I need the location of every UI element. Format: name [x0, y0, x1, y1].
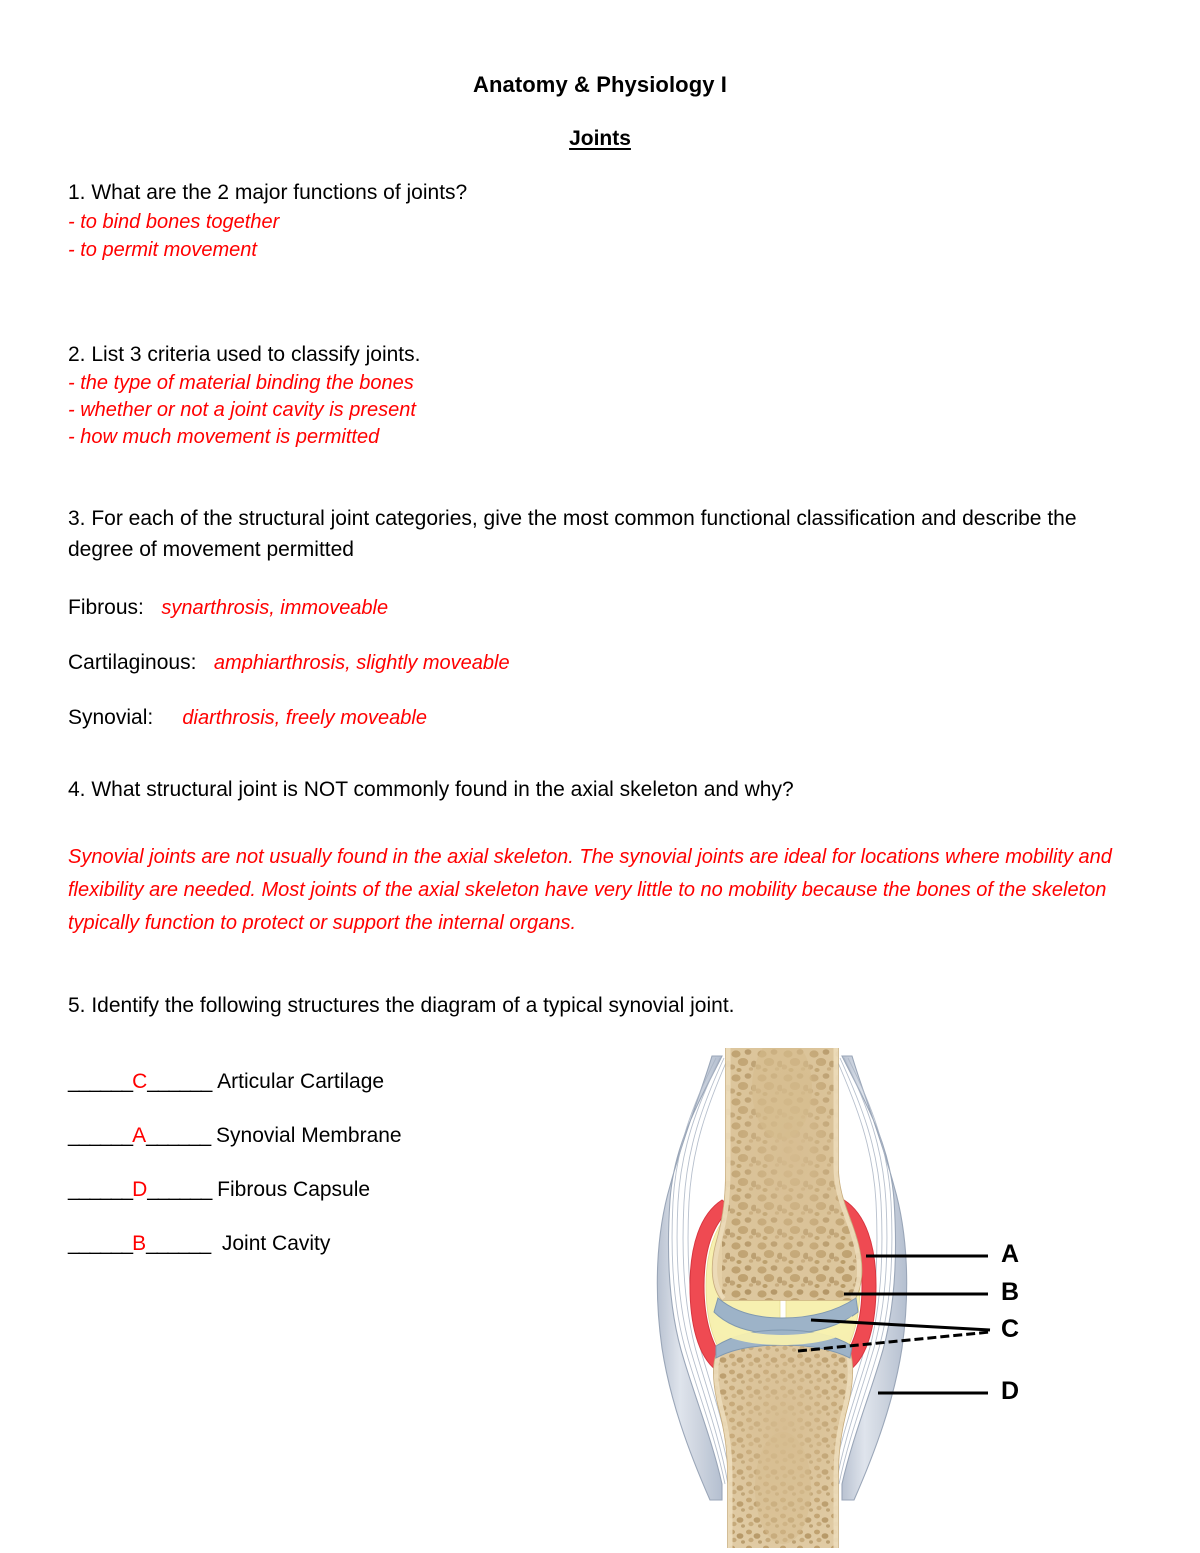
- question-4-prompt: 4. What structural joint is NOT commonly…: [68, 775, 1133, 805]
- diagram-label-d: D: [1001, 1377, 1019, 1406]
- identification-list: ______C______ Articular Cartilage ______…: [68, 1070, 402, 1286]
- question-3: 3. For each of the structural joint cate…: [68, 503, 1108, 730]
- list-item: ______B______ Joint Cavity: [68, 1232, 402, 1286]
- category-answer-fibrous: synarthrosis, immoveable: [161, 597, 388, 619]
- structure-label: Synovial Membrane: [216, 1124, 402, 1147]
- question-1: 1. What are the 2 major functions of joi…: [68, 178, 1128, 264]
- diagram-label-c: C: [1001, 1315, 1019, 1344]
- structure-label: Fibrous Capsule: [217, 1178, 370, 1201]
- worksheet-page: Anatomy & Physiology I Joints 1. What ar…: [0, 0, 1200, 1553]
- blank-answer-letter[interactable]: D: [132, 1178, 147, 1201]
- blank-answer-letter[interactable]: B: [132, 1232, 146, 1255]
- question-2-answer-2: - whether or not a joint cavity is prese…: [68, 397, 1128, 424]
- category-label-synovial: Synovial:: [68, 706, 153, 729]
- blank-answer-letter[interactable]: A: [132, 1124, 146, 1147]
- list-item: ______D______ Fibrous Capsule: [68, 1178, 402, 1232]
- category-label-fibrous: Fibrous:: [68, 596, 144, 619]
- category-answer-synovial: diarthrosis, freely moveable: [182, 707, 427, 729]
- question-5: 5. Identify the following structures the…: [68, 991, 768, 1021]
- structure-label: Joint Cavity: [222, 1232, 331, 1255]
- page-title: Anatomy & Physiology I: [0, 72, 1200, 98]
- list-item: ______A______ Synovial Membrane: [68, 1124, 402, 1178]
- joint-diagram-svg: [626, 1048, 1066, 1548]
- lower-bone: [710, 1340, 858, 1548]
- blank-suffix[interactable]: ______: [147, 1070, 211, 1093]
- question-1-prompt: 1. What are the 2 major functions of joi…: [68, 178, 1128, 208]
- question-3-row-fibrous: Fibrous: synarthrosis, immoveable: [68, 596, 1108, 620]
- page-subtitle-text: Joints: [569, 127, 631, 150]
- question-2-prompt: 2. List 3 criteria used to classify join…: [68, 340, 1128, 370]
- question-4-answer: Synovial joints are not usually found in…: [68, 841, 1133, 940]
- blank-suffix[interactable]: ______: [146, 1124, 210, 1147]
- blank-prefix[interactable]: ______: [68, 1070, 132, 1093]
- question-1-answer-2: - to permit movement: [68, 237, 1128, 264]
- blank-suffix[interactable]: ______: [147, 1178, 211, 1201]
- diagram-label-a: A: [1001, 1240, 1019, 1269]
- blank-prefix[interactable]: ______: [68, 1232, 132, 1255]
- category-answer-cartilaginous: amphiarthrosis, slightly moveable: [214, 652, 510, 674]
- joint-anatomy-group: [657, 1048, 990, 1548]
- question-2-answer-1: - the type of material binding the bones: [68, 370, 1128, 397]
- list-item: ______C______ Articular Cartilage: [68, 1070, 402, 1124]
- blank-suffix[interactable]: ______: [146, 1232, 210, 1255]
- question-1-answer-1: - to bind bones together: [68, 209, 1128, 236]
- synovial-joint-diagram: A B C D: [626, 1048, 1066, 1548]
- question-2: 2. List 3 criteria used to classify join…: [68, 340, 1128, 451]
- category-label-cartilaginous: Cartilaginous:: [68, 651, 196, 674]
- question-3-row-synovial: Synovial: diarthrosis, freely moveable: [68, 706, 1108, 730]
- blank-prefix[interactable]: ______: [68, 1178, 132, 1201]
- question-4: 4. What structural joint is NOT commonly…: [68, 775, 1133, 940]
- question-3-row-cartilaginous: Cartilaginous: amphiarthrosis, slightly …: [68, 651, 1108, 675]
- diagram-label-b: B: [1001, 1278, 1019, 1307]
- question-5-prompt: 5. Identify the following structures the…: [68, 991, 768, 1021]
- page-subtitle: Joints: [0, 127, 1200, 151]
- question-2-answer-3: - how much movement is permitted: [68, 424, 1128, 451]
- blank-answer-letter[interactable]: C: [132, 1070, 147, 1093]
- question-3-prompt: 3. For each of the structural joint cate…: [68, 503, 1108, 565]
- structure-label: Articular Cartilage: [217, 1070, 384, 1093]
- blank-prefix[interactable]: ______: [68, 1124, 132, 1147]
- upper-bone: [713, 1048, 862, 1304]
